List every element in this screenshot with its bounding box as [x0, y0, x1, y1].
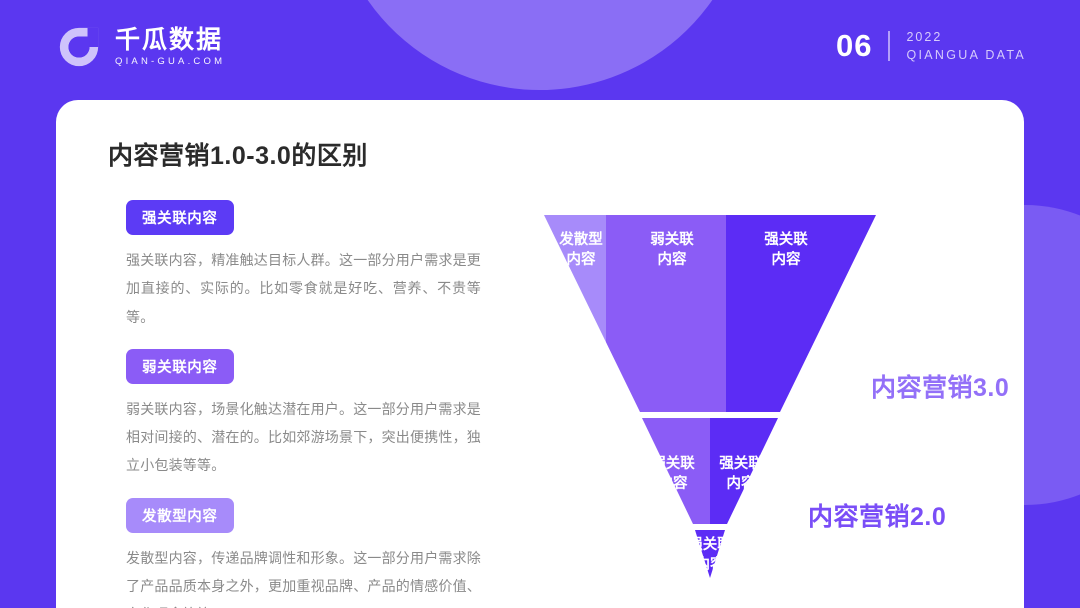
funnel-label-3c-line2: 内容 — [772, 250, 801, 268]
badge-weak-relation: 弱关联内容 — [126, 349, 234, 384]
slide-header: 千瓜数据 QIAN-GUA.COM 06 2022 QIANGUA DATA — [0, 0, 1080, 96]
definition-block-strong: 强关联内容 强关联内容，精准触达目标人群。这一部分用户需求是更加直接的、实际的。… — [126, 200, 496, 331]
brand-name-en: QIAN-GUA.COM — [115, 56, 225, 68]
definition-text-weak: 弱关联内容，场景化触达潜在用户。这一部分用户需求是相对间接的、潜在的。比如郊游场… — [126, 395, 481, 480]
page-meta: 06 2022 QIANGUA DATA — [836, 28, 1026, 64]
definition-text-divergent: 发散型内容，传递品牌调性和形象。这一部分用户需求除了产品品质本身之外，更加重视品… — [126, 544, 481, 608]
brand-year: 2022 — [906, 28, 1026, 46]
funnel-label-1a-line2: 内容 — [696, 555, 725, 573]
definition-block-weak: 弱关联内容 弱关联内容，场景化触达潜在用户。这一部分用户需求是相对间接的、潜在的… — [126, 349, 496, 480]
page-number: 06 — [836, 28, 872, 64]
funnel-label-2b-line2: 内容 — [727, 474, 756, 492]
slide-root: 千瓜数据 QIAN-GUA.COM 06 2022 QIANGUA DATA 内… — [0, 0, 1080, 608]
funnel-label-3a-line1: 发散型 — [558, 230, 603, 248]
definition-block-divergent: 发散型内容 发散型内容，传递品牌调性和形象。这一部分用户需求除了产品品质本身之外… — [126, 498, 496, 608]
qiangua-crescent-logo-icon — [56, 24, 102, 70]
funnel-label-2a-line2: 内容 — [659, 474, 688, 492]
stage-label-2: 内容营销2.0 — [808, 497, 946, 533]
brand-meta-lines: 2022 QIANGUA DATA — [906, 28, 1026, 64]
funnel-label-3a-line2: 内容 — [567, 250, 596, 268]
funnel-label-3b-line2: 内容 — [658, 250, 687, 268]
badge-strong-relation: 强关联内容 — [126, 200, 234, 235]
page-meta-divider — [888, 31, 890, 61]
badge-divergent: 发散型内容 — [126, 498, 234, 533]
definitions-column: 强关联内容 强关联内容，精准触达目标人群。这一部分用户需求是更加直接的、实际的。… — [126, 200, 496, 608]
brand-name-cn: 千瓜数据 — [115, 26, 225, 54]
definition-text-strong: 强关联内容，精准触达目标人群。这一部分用户需求是更加直接的、实际的。比如零食就是… — [126, 246, 481, 331]
page-title: 内容营销1.0-3.0的区别 — [108, 136, 368, 172]
stage-label-3: 内容营销3.0 — [871, 368, 1009, 404]
funnel-label-3b-line1: 弱关联 — [650, 230, 694, 248]
brand-logo: 千瓜数据 QIAN-GUA.COM — [56, 24, 225, 70]
brand-logo-text: 千瓜数据 QIAN-GUA.COM — [115, 26, 225, 68]
funnel-label-3c-line1: 强关联 — [764, 230, 808, 248]
funnel-label-1a-line1: 强关联 — [688, 535, 732, 553]
funnel-label-2a-line1: 弱关联 — [651, 454, 695, 472]
brand-label: QIANGUA DATA — [906, 46, 1026, 64]
funnel-label-2b-line1: 强关联 — [719, 454, 763, 472]
content-card: 内容营销1.0-3.0的区别 强关联内容 强关联内容，精准触达目标人群。这一部分… — [56, 100, 1024, 608]
